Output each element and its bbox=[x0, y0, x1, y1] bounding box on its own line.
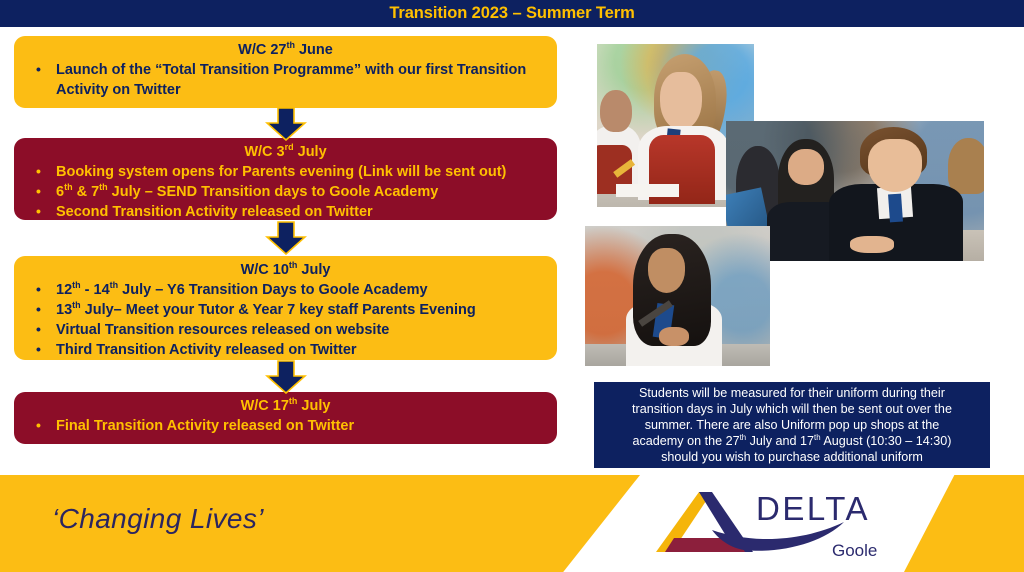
timeline-bullet-item: Final Transition Activity released on Tw… bbox=[22, 416, 549, 436]
timeline-box-2-heading: W/C 3rd July bbox=[22, 143, 549, 161]
uniform-notice-line: transition days in July which will then … bbox=[632, 402, 952, 416]
timeline-bullet-item: Third Transition Activity released on Tw… bbox=[22, 340, 549, 360]
uniform-notice-line: should you wish to purchase additional u… bbox=[661, 450, 923, 464]
ordinal-suffix: th bbox=[286, 40, 294, 50]
ordinal-suffix: rd bbox=[285, 142, 294, 152]
timeline-box-2: W/C 3rd July Booking system opens for Pa… bbox=[14, 138, 557, 220]
footer-band-right bbox=[904, 475, 1024, 572]
slide-canvas: Transition 2023 – Summer Term W/C 27th J… bbox=[0, 0, 1024, 572]
uniform-notice-line: Students will be measured for their unif… bbox=[639, 386, 945, 400]
slide-title-bar: Transition 2023 – Summer Term bbox=[0, 0, 1024, 27]
timeline-box-4-heading: W/C 17th July bbox=[22, 397, 549, 415]
timeline-bullet-item: Virtual Transition resources released on… bbox=[22, 320, 549, 340]
page-title: Transition 2023 – Summer Term bbox=[389, 4, 634, 23]
ordinal-suffix: th bbox=[64, 182, 72, 192]
ordinal-suffix: th bbox=[289, 396, 297, 406]
timeline-bullet-item: Booking system opens for Parents evening… bbox=[22, 162, 549, 182]
down-arrow-icon bbox=[265, 107, 307, 141]
footer-motto: ‘Changing Lives’ bbox=[52, 503, 264, 535]
timeline-box-4-items: Final Transition Activity released on Tw… bbox=[22, 416, 549, 436]
ordinal-suffix: th bbox=[72, 300, 80, 310]
uniform-notice-box: Students will be measured for their unif… bbox=[594, 382, 990, 468]
uniform-notice-line: summer. There are also Uniform pop up sh… bbox=[645, 418, 939, 432]
timeline-bullet-item: 13th July– Meet your Tutor & Year 7 key … bbox=[22, 300, 549, 320]
timeline-bullet-item: 6th & 7th July – SEND Transition days to… bbox=[22, 182, 549, 202]
timeline-box-3: W/C 10th July 12th - 14th July – Y6 Tran… bbox=[14, 256, 557, 360]
timeline-box-2-items: Booking system opens for Parents evening… bbox=[22, 162, 549, 222]
ordinal-suffix: th bbox=[110, 280, 118, 290]
svg-text:DELTA: DELTA bbox=[756, 490, 870, 527]
ordinal-suffix: th bbox=[740, 433, 747, 442]
delta-academies-logo: DELTA Goole bbox=[652, 486, 908, 564]
photo-bottom-left bbox=[585, 226, 770, 366]
ordinal-suffix: th bbox=[72, 280, 80, 290]
ordinal-suffix: th bbox=[99, 182, 107, 192]
timeline-bullet-item: Second Transition Activity released on T… bbox=[22, 202, 549, 222]
timeline-box-1-heading: W/C 27th June bbox=[22, 41, 549, 59]
timeline-box-3-heading: W/C 10th July bbox=[22, 261, 549, 279]
down-arrow-icon bbox=[265, 221, 307, 255]
timeline-box-3-items: 12th - 14th July – Y6 Transition Days to… bbox=[22, 280, 549, 360]
ordinal-suffix: th bbox=[814, 433, 821, 442]
timeline-box-1: W/C 27th June Launch of the “Total Trans… bbox=[14, 36, 557, 108]
svg-text:Goole: Goole bbox=[832, 541, 877, 560]
uniform-notice-line: academy on the 27th July and 17th August… bbox=[632, 434, 951, 448]
timeline-bullet-item: Launch of the “Total Transition Programm… bbox=[22, 60, 549, 100]
timeline-bullet-item: 12th - 14th July – Y6 Transition Days to… bbox=[22, 280, 549, 300]
uniform-notice-text: Students will be measured for their unif… bbox=[632, 385, 952, 466]
timeline-box-4: W/C 17th July Final Transition Activity … bbox=[14, 392, 557, 444]
timeline-box-1-items: Launch of the “Total Transition Programm… bbox=[22, 60, 549, 100]
ordinal-suffix: th bbox=[289, 260, 297, 270]
down-arrow-icon bbox=[265, 360, 307, 394]
